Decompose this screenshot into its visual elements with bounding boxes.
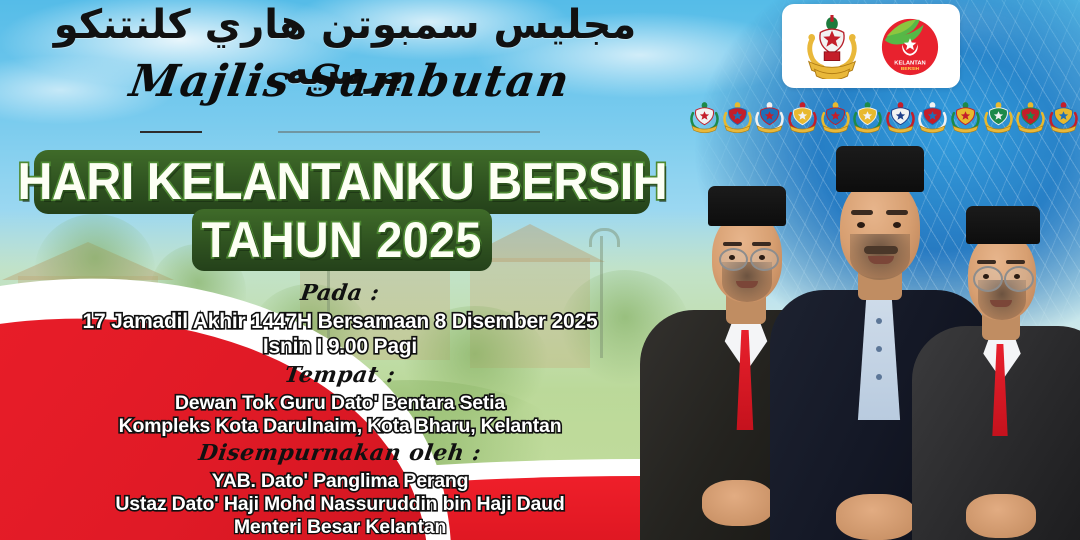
eye: [759, 255, 765, 260]
officiant-title: Menteri Besar Kelantan: [0, 516, 680, 539]
date-label: Pada :: [0, 280, 682, 306]
clasped-hands: [966, 494, 1036, 538]
state-crest-negeri-sembilan-icon: [853, 100, 882, 134]
clasped-hands: [836, 494, 916, 540]
eye: [729, 255, 735, 260]
script-subtitle: Majlis Sambutan: [0, 56, 704, 107]
state-crest-pahang-icon: [951, 100, 980, 134]
three-officials-photo: [640, 150, 1080, 540]
officiant-line-2: Ustaz Dato' Haji Mohd Nassuruddin bin Ha…: [0, 493, 680, 516]
state-crest-perak-icon: [788, 100, 817, 134]
state-crest-kedah-icon: [723, 100, 752, 134]
eyebrow: [977, 260, 996, 264]
date-line-1: 17 Jamadil Akhir 1447H Bersamaan 8 Disem…: [0, 310, 680, 335]
eyeglasses-icon: [973, 266, 1003, 292]
state-crest-sabah-icon: [1049, 100, 1078, 134]
title-banner-line1: HARI KELANTANKU BERSIH: [34, 150, 650, 214]
state-crest-kelantan-icon: [1016, 100, 1045, 134]
songkok-cap-icon: [966, 206, 1040, 244]
state-crest-pulau-pinang-icon: [755, 100, 784, 134]
eyebrow: [752, 242, 771, 246]
shirt-button: [876, 374, 882, 380]
venue-line-2: Kompleks Kota Darulnaim, Kota Bharu, Kel…: [0, 415, 680, 438]
officiant-line-1: YAB. Dato' Panglima Perang: [0, 470, 680, 493]
eyebrow: [1006, 260, 1025, 264]
kelantan-state-crest-icon: [801, 13, 863, 79]
state-crest-selangor-icon: [821, 100, 850, 134]
venue-line-1: Dewan Tok Guru Dato' Bentara Setia: [0, 392, 680, 415]
state-crest-melaka-icon: [886, 100, 915, 134]
shirt-button: [876, 318, 882, 324]
moustache: [864, 246, 898, 254]
mouth: [736, 281, 758, 288]
divider-right: [278, 131, 540, 133]
mouth: [990, 300, 1012, 307]
logo-card: KELANTAN BERSIH: [782, 4, 960, 88]
title-line2-text: TAHUN 2025: [202, 215, 482, 265]
state-crest-terengganu-icon: [984, 100, 1013, 134]
svg-text:BERSIH: BERSIH: [901, 66, 920, 72]
eye: [857, 222, 865, 228]
songkok-cap-icon: [836, 146, 924, 192]
date-line-2: Isnin I 9.00 Pagi: [0, 335, 680, 360]
state-crest-johor-icon: [918, 100, 947, 134]
eyebrow: [886, 210, 908, 215]
title-line1-text: HARI KELANTANKU BERSIH: [17, 156, 667, 208]
mouth: [868, 256, 894, 264]
clasped-hands: [702, 480, 774, 526]
divider-left: [140, 131, 202, 133]
title-banner-line2: TAHUN 2025: [192, 209, 492, 271]
eye: [893, 222, 901, 228]
kelantan-bersih-logo-icon: KELANTAN BERSIH: [879, 15, 941, 77]
poster-canvas: KELANTAN BERSIH مجليس سمبوتن هاري كلنتنك…: [0, 0, 1080, 540]
shirt-button: [876, 346, 882, 352]
officiated-label: Disempurnakan oleh :: [0, 440, 682, 466]
eye: [983, 274, 989, 279]
event-details: Pada : 17 Jamadil Akhir 1447H Bersamaan …: [0, 278, 680, 539]
svg-text:KELANTAN: KELANTAN: [894, 60, 925, 66]
eye: [1014, 274, 1020, 279]
songkok-cap-icon: [708, 186, 786, 226]
eyeglasses-icon: [750, 248, 779, 271]
eyebrow: [723, 242, 742, 246]
state-crest-strip: [690, 96, 1078, 138]
eyebrow: [851, 210, 873, 215]
venue-label: Tempat :: [0, 362, 682, 388]
eyeglasses-icon: [1004, 266, 1034, 292]
